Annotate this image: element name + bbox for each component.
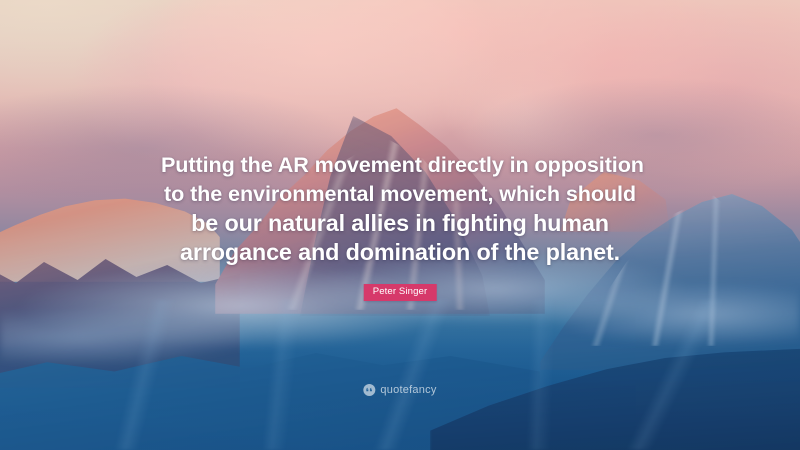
- quote-line-2: to the environmental movement, which sho…: [161, 179, 639, 208]
- author-name: Peter Singer: [373, 286, 428, 297]
- quote-poster: Putting the AR movement directly in oppo…: [0, 0, 800, 450]
- quotefancy-wordmark: quotefancy: [380, 385, 436, 396]
- quote-line-3: be our natural allies in fighting human: [161, 209, 639, 238]
- quote-line-1: Putting the AR movement directly in oppo…: [161, 150, 639, 179]
- author-badge[interactable]: Peter Singer: [364, 284, 437, 301]
- poster-content: Putting the AR movement directly in oppo…: [0, 0, 800, 450]
- quotefancy-watermark[interactable]: quotefancy: [363, 384, 436, 396]
- quote-mark-icon: [363, 384, 375, 396]
- quote-line-4: arrogance and domination of the planet.: [161, 238, 639, 267]
- quote-text: Putting the AR movement directly in oppo…: [161, 150, 639, 268]
